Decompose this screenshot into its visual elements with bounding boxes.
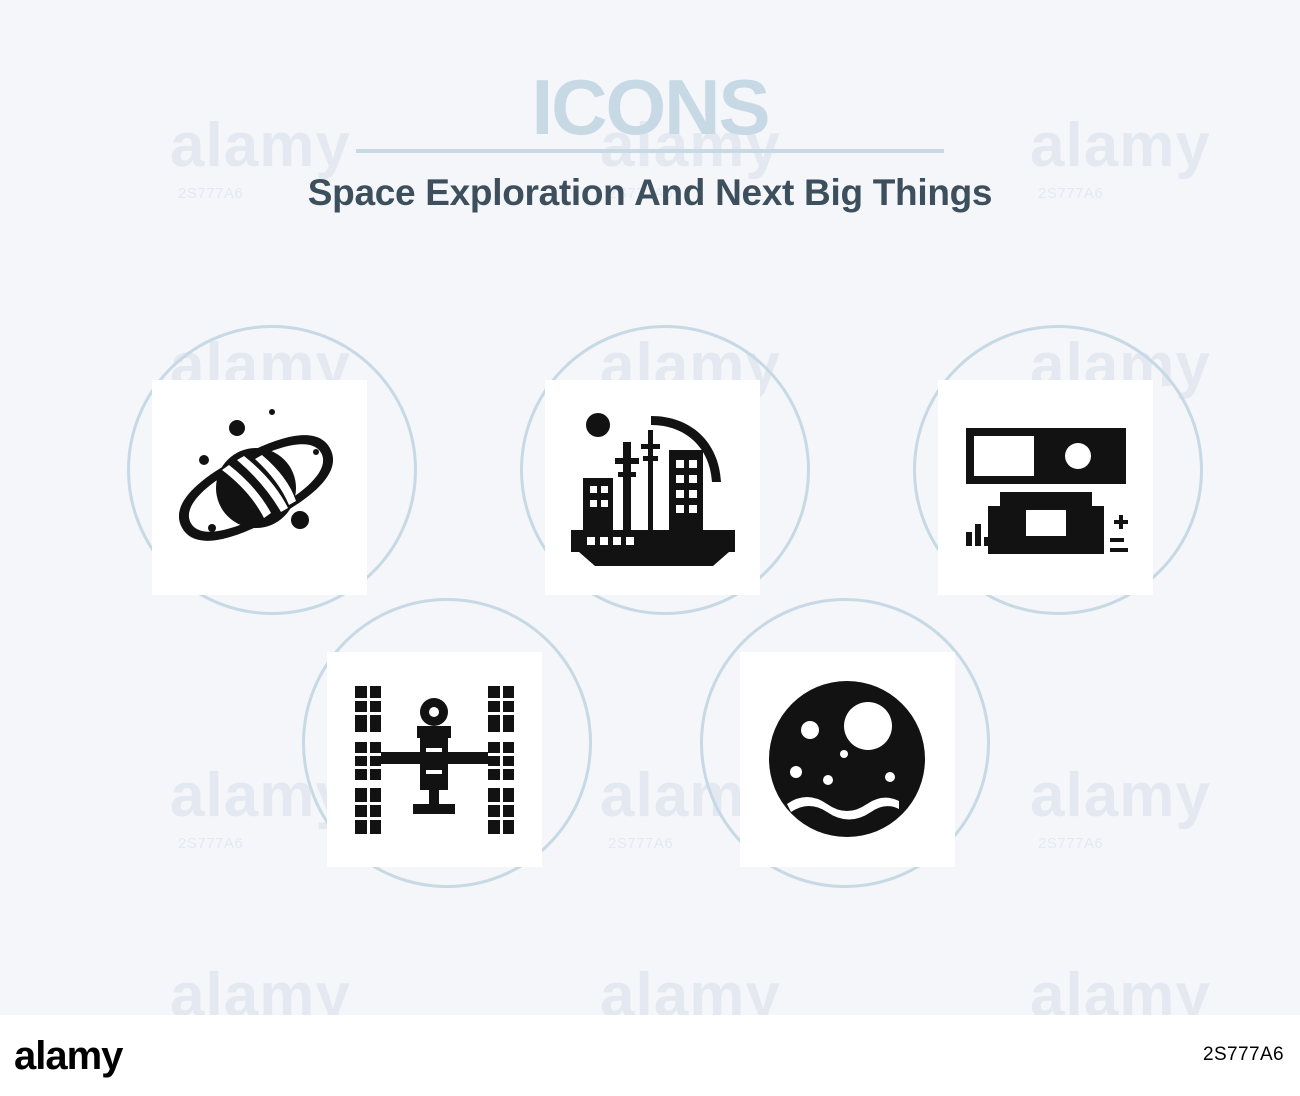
icon-tile-space-station-module[interactable] (938, 380, 1153, 595)
icon-grid (0, 300, 1300, 920)
header-divider (356, 149, 944, 153)
icon-tile-moon[interactable] (740, 652, 955, 867)
footer-bar: alamy 2S777A6 (0, 1015, 1300, 1096)
alamy-logo: alamy (14, 1034, 122, 1079)
icon-pack-page: alamy alamy alamy alamy alamy alamy alam… (0, 0, 1300, 1096)
icons-wordmark: ICONS (0, 68, 1300, 146)
icon-tile-planet-saturn[interactable] (152, 380, 367, 595)
icon-tile-space-city[interactable] (545, 380, 760, 595)
image-code: 2S777A6 (1203, 1044, 1284, 1066)
page-title: Space Exploration And Next Big Things (0, 172, 1300, 214)
icon-tile-satellite[interactable] (327, 652, 542, 867)
